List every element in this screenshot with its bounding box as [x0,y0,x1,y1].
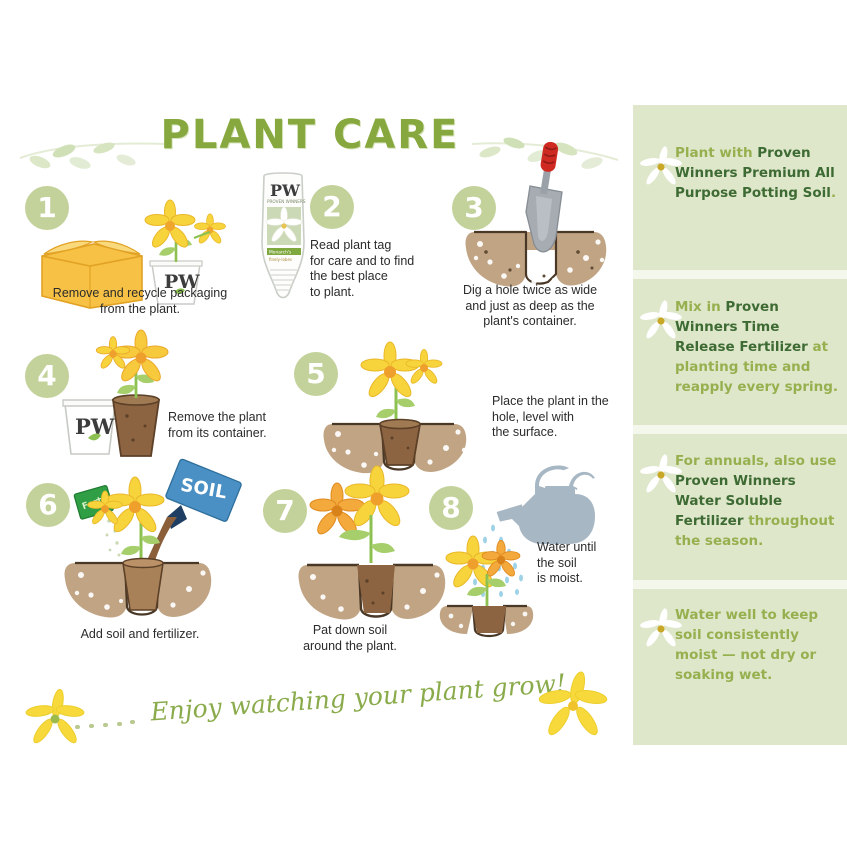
svg-text:PW: PW [270,181,301,200]
step-6: 6 Fert SOIL [10,455,260,655]
sidebar-divider [633,425,847,434]
tips-sidebar: Plant with Proven Winners Premium All Pu… [633,105,847,745]
step-4-illustration: PW [55,332,200,462]
step-2: PW PROVEN WINNERS Mona [240,160,430,340]
plant-care-poster: PLANT CARE 1 [0,0,847,847]
step-1-caption: Remove and recycle packaging from the pl… [20,286,260,317]
step-7-caption: Pat down soil around the plant. [255,623,445,654]
sidebar-tip-3-text: For annuals, also use Proven Winners Wat… [675,451,843,551]
closing-message: Enjoy watching your plant grow! [149,669,566,727]
step-6-illustration: Fert SOIL [55,455,255,635]
step-3-caption: Dig a hole twice as wide and just as dee… [440,283,620,330]
step-7: 7 [255,455,445,655]
sidebar-tip-4-text: Water well to keep soil consistently moi… [675,605,843,685]
main-panel: PLANT CARE 1 [0,100,625,760]
step-8-caption: Water until the soil is moist. [537,540,632,587]
step-7-illustration [295,463,445,633]
svg-text:finely-lobes: finely-lobes [269,257,292,262]
sidebar-tip-2-text: Mix in Proven Winners Time Release Ferti… [675,297,843,397]
step-5-caption: Place the plant in the hole, level with … [492,394,622,441]
svg-text:PROVEN WINNERS: PROVEN WINNERS [267,199,306,204]
sidebar-tip-1-text: Plant with Proven Winners Premium All Pu… [675,143,843,203]
sidebar-tip-3: For annuals, also use Proven Winners Wat… [633,451,847,571]
closing-flower-right-icon [540,675,606,737]
step-3: 3 [430,158,620,338]
svg-text:Monarch's: Monarch's [269,250,292,256]
step-3-illustration [460,166,610,296]
sidebar-tip-1: Plant with Proven Winners Premium All Pu… [633,143,847,263]
closing-flower-left-icon [28,693,82,745]
step-number-badge: 2 [310,185,354,229]
step-2-caption: Read plant tag for care and to find the … [310,238,430,300]
step-6-caption: Add soil and fertilizer. [20,627,260,643]
sidebar-divider [633,580,847,589]
step-4-caption: Remove the plant from its container. [168,410,303,441]
sidebar-tip-2: Mix in Proven Winners Time Release Ferti… [633,297,847,417]
step-4: 4 PW [20,332,290,472]
closing-row: Enjoy watching your plant grow! [0,675,620,745]
sidebar-tip-4: Water well to keep soil consistently moi… [633,605,847,725]
step-8: 8 [425,448,625,648]
step-1: 1 PW [20,178,260,308]
sidebar-divider [633,270,847,279]
